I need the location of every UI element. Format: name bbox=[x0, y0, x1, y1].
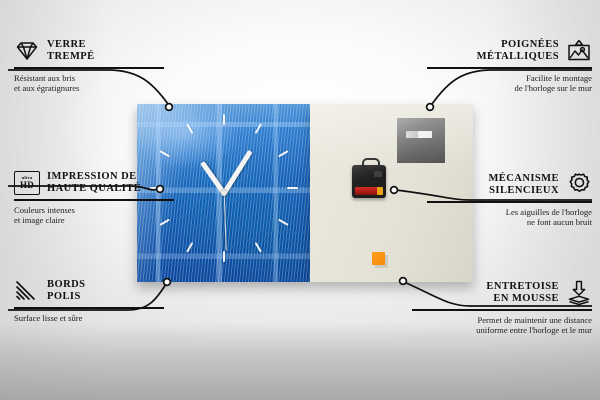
callout-header: ultra HD IMPRESSION DEHAUTE QUALITÉ bbox=[14, 170, 174, 196]
callout-rule bbox=[427, 67, 592, 69]
callout-entretoise-en-mousse[interactable]: ENTRETOISEEN MOUSSE Permet de maintenir … bbox=[412, 280, 592, 335]
callout-title: IMPRESSION DEHAUTE QUALITÉ bbox=[47, 171, 141, 196]
polished-edge-icon bbox=[14, 278, 40, 304]
hanger-slot bbox=[406, 131, 432, 138]
callout-description: Les aiguilles de l'horlogene font aucun … bbox=[427, 207, 592, 228]
battery-terminal bbox=[377, 187, 383, 195]
metal-hanger-plate bbox=[397, 118, 445, 163]
callout-description: Permet de maintenir une distanceuniforme… bbox=[412, 315, 592, 336]
callout-header: POIGNÉESMÉTALLIQUES bbox=[427, 38, 592, 64]
callout-title: POIGNÉESMÉTALLIQUES bbox=[477, 39, 559, 64]
callout-mecanisme-silencieux[interactable]: MÉCANISMESILENCIEUX Les aiguilles de l'h… bbox=[427, 172, 592, 227]
callout-description: Résistant aux briset aux égratignures bbox=[14, 73, 164, 94]
callout-poignees-metalliques[interactable]: POIGNÉESMÉTALLIQUES Facilite le montaged… bbox=[427, 38, 592, 93]
diamond-icon bbox=[14, 38, 40, 64]
callout-rule bbox=[14, 67, 164, 69]
arrow-down-stack-icon bbox=[566, 280, 592, 306]
callout-description: Couleurs intenseset image claire bbox=[14, 205, 174, 226]
callout-title: VERRETREMPÉ bbox=[47, 39, 95, 64]
battery bbox=[355, 187, 380, 195]
infographic-canvas: VERRETREMPÉ Résistant aux briset aux égr… bbox=[0, 0, 600, 400]
mechanism-chip bbox=[374, 171, 382, 177]
callout-rule bbox=[14, 199, 174, 201]
quartz-mechanism bbox=[352, 165, 386, 198]
mechanism-hook bbox=[362, 158, 380, 169]
hanging-frame-icon bbox=[566, 38, 592, 64]
callout-bords-polis[interactable]: BORDSPOLIS Surface lisse et sûre bbox=[14, 278, 164, 323]
callout-impression-haute-qualite[interactable]: ultra HD IMPRESSION DEHAUTE QUALITÉ Coul… bbox=[14, 170, 174, 225]
callout-title: BORDSPOLIS bbox=[47, 279, 85, 304]
callout-rule bbox=[412, 309, 592, 311]
callout-header: MÉCANISMESILENCIEUX bbox=[427, 172, 592, 198]
callout-rule bbox=[427, 201, 592, 203]
gear-icon bbox=[566, 172, 592, 198]
callout-rule bbox=[14, 307, 164, 309]
clock-center-pin bbox=[221, 190, 227, 196]
callout-description: Facilite le montagede l'horloge sur le m… bbox=[427, 73, 592, 94]
product-image bbox=[137, 104, 473, 282]
callout-title: MÉCANISMESILENCIEUX bbox=[488, 173, 559, 198]
callout-header: BORDSPOLIS bbox=[14, 278, 164, 304]
callout-verre-trempe[interactable]: VERRETREMPÉ Résistant aux briset aux égr… bbox=[14, 38, 164, 93]
callout-header: ENTRETOISEEN MOUSSE bbox=[412, 280, 592, 306]
callout-description: Surface lisse et sûre bbox=[14, 313, 164, 323]
foam-spacer bbox=[372, 252, 385, 265]
callout-header: VERRETREMPÉ bbox=[14, 38, 164, 64]
ultra-hd-icon-main-label: HD bbox=[20, 181, 34, 190]
ultra-hd-icon: ultra HD bbox=[14, 170, 40, 196]
callout-title: ENTRETOISEEN MOUSSE bbox=[486, 281, 559, 306]
